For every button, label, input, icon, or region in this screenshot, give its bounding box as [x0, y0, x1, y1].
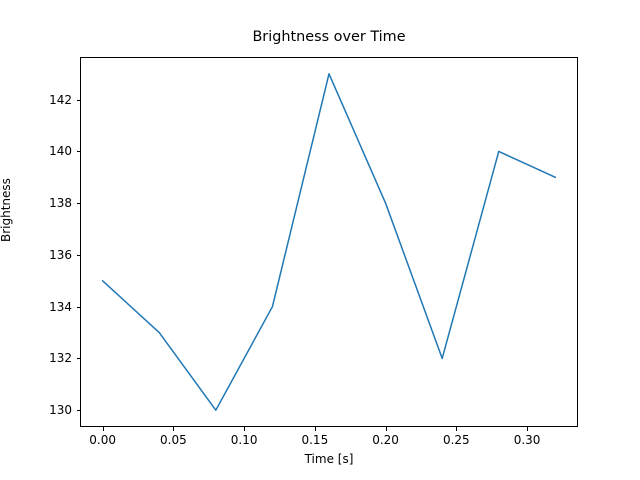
y-tick-mark [77, 100, 81, 101]
x-tick-mark [244, 427, 245, 431]
y-tick-label: 140 [30, 145, 72, 157]
x-tick-mark [527, 427, 528, 431]
x-tick-label: 0.30 [514, 434, 541, 446]
y-tick-label: 130 [30, 404, 72, 416]
x-axis-label: Time [s] [80, 453, 578, 465]
y-tick-mark [77, 307, 81, 308]
y-tick-mark [77, 358, 81, 359]
y-tick-mark [77, 410, 81, 411]
x-tick-label: 0.10 [231, 434, 258, 446]
x-tick-mark [103, 427, 104, 431]
chart-title: Brightness over Time [80, 30, 578, 44]
x-tick-label: 0.25 [443, 434, 470, 446]
x-tick-label: 0.05 [160, 434, 187, 446]
y-tick-label: 142 [30, 94, 72, 106]
plot-area [80, 57, 578, 427]
y-tick-mark [77, 255, 81, 256]
line-series-brightness [103, 74, 556, 410]
y-tick-label: 138 [30, 197, 72, 209]
x-tick-label: 0.00 [89, 434, 116, 446]
y-tick-mark [77, 203, 81, 204]
y-tick-label: 136 [30, 249, 72, 261]
figure-canvas: Brightness over Time Brightness 13013213… [0, 0, 640, 480]
x-tick-label: 0.20 [372, 434, 399, 446]
x-tick-mark [456, 427, 457, 431]
x-tick-label: 0.15 [301, 434, 328, 446]
x-tick-mark [173, 427, 174, 431]
x-tick-mark [315, 427, 316, 431]
x-tick-mark [386, 427, 387, 431]
y-tick-mark [77, 151, 81, 152]
y-tick-label: 132 [30, 352, 72, 364]
y-axis-label: Brightness [0, 178, 12, 242]
y-tick-label: 134 [30, 301, 72, 313]
